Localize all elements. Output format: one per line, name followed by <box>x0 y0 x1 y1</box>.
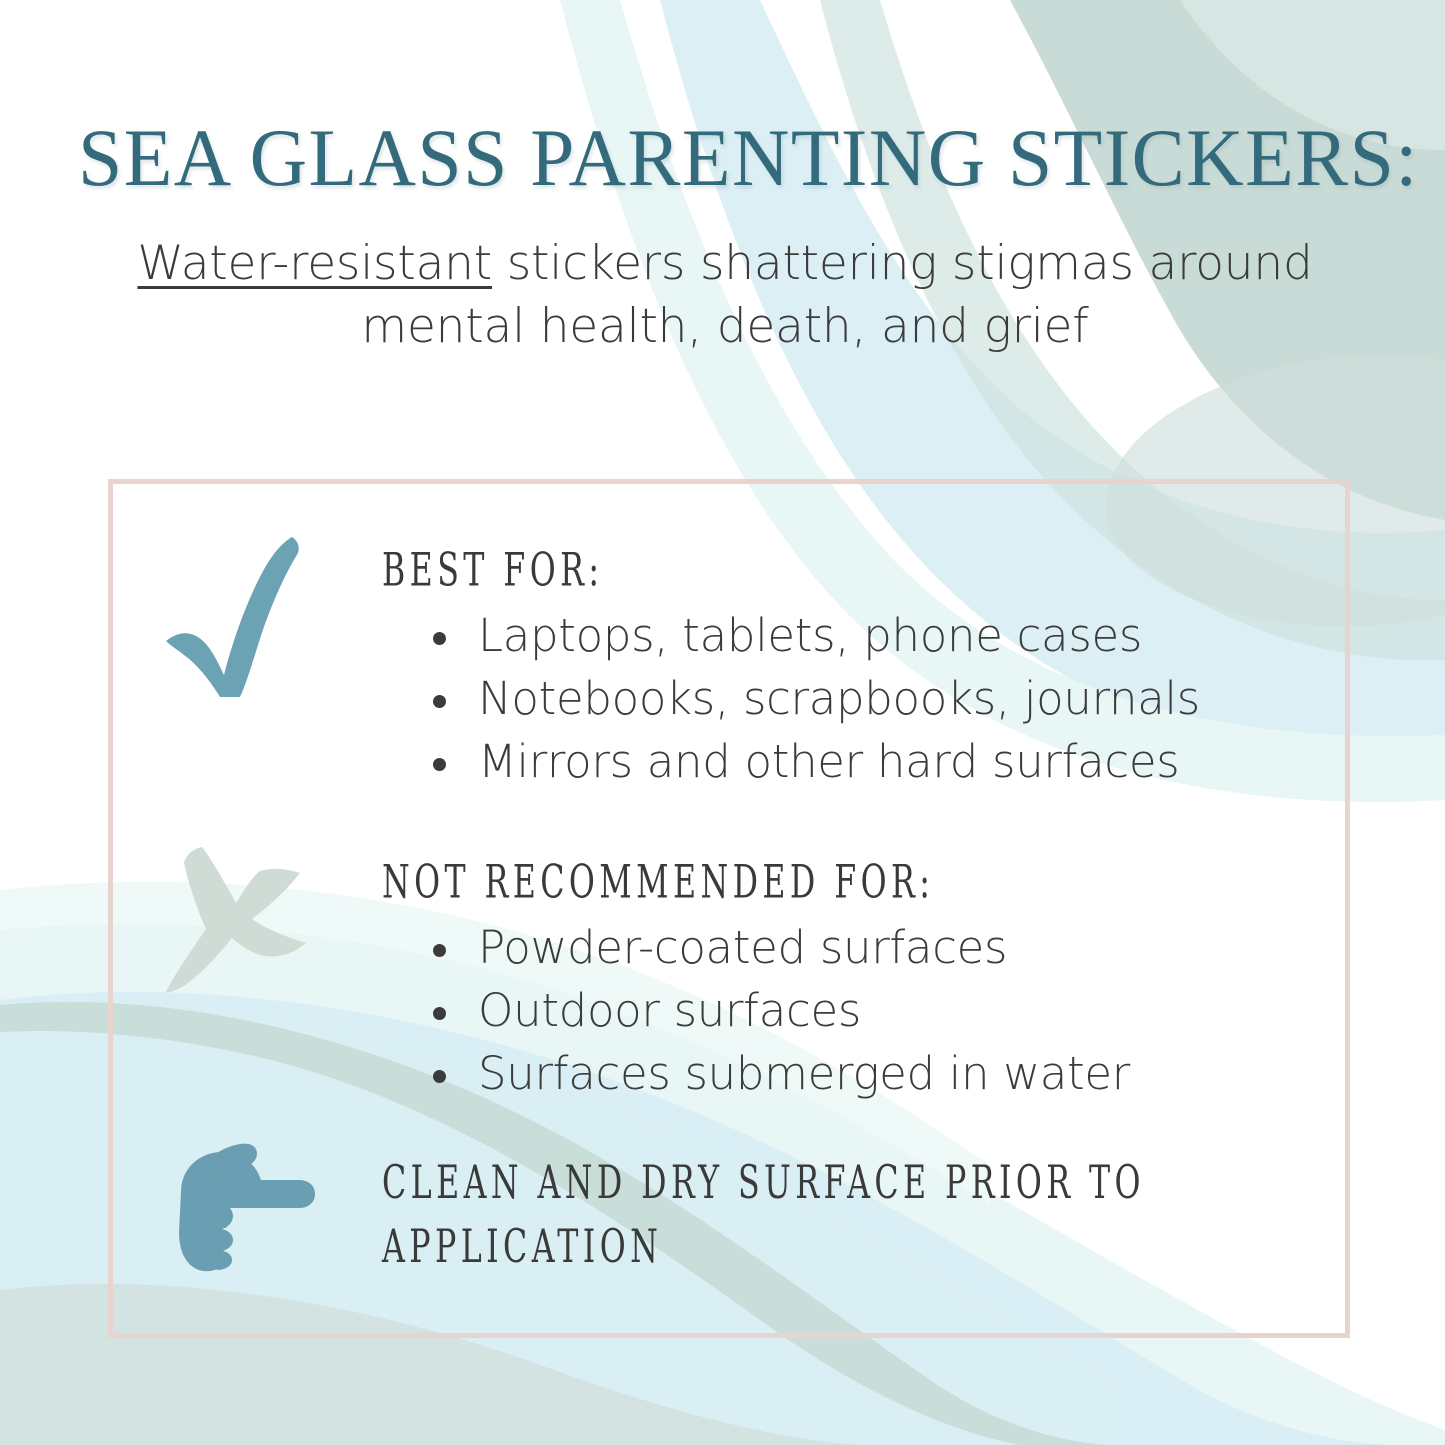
subtitle-emphasis: Water-resistant <box>137 236 492 291</box>
list-item-label: Surfaces submerged in water <box>478 1047 1130 1100</box>
list-item: Mirrors and other hard surfaces <box>420 730 1200 793</box>
application-instruction: CLEAN AND DRY SURFACE PRIOR TO APPLICATI… <box>382 1152 1376 1280</box>
list-item-label: Outdoor surfaces <box>478 984 861 1037</box>
pointing-hand-icon <box>163 1140 328 1280</box>
list-item-label: Powder-coated surfaces <box>478 921 1007 974</box>
list-item-label: Laptops, tablets, phone cases <box>478 609 1142 662</box>
best-for-heading: BEST FOR: <box>382 546 603 597</box>
list-item: Powder-coated surfaces <box>420 916 1320 979</box>
list-item: Laptops, tablets, phone cases <box>420 604 1200 667</box>
page-subtitle: Water-resistant stickers shattering stig… <box>120 232 1330 358</box>
subtitle-rest: stickers shattering stigmas around menta… <box>361 236 1312 354</box>
poster-canvas: SEA GLASS PARENTING STICKERS: Water-resi… <box>0 0 1445 1445</box>
check-icon <box>158 533 318 698</box>
list-item: Outdoor surfaces <box>420 979 1320 1042</box>
not-recommended-list: Powder-coated surfaces Outdoor surfaces … <box>420 916 1320 1105</box>
list-item-label: Notebooks, scrapbooks, journals <box>478 672 1200 725</box>
x-icon <box>160 845 320 1000</box>
best-for-list: Laptops, tablets, phone cases Notebooks,… <box>420 604 1320 793</box>
list-item-label: Mirrors and other hard surfaces <box>478 735 1179 788</box>
list-item: Surfaces submerged in water <box>420 1042 1320 1105</box>
page-title: SEA GLASS PARENTING STICKERS: <box>78 115 1339 201</box>
not-recommended-heading: NOT RECOMMENDED FOR: <box>382 858 934 909</box>
list-item: Notebooks, scrapbooks, journals <box>420 667 1200 730</box>
